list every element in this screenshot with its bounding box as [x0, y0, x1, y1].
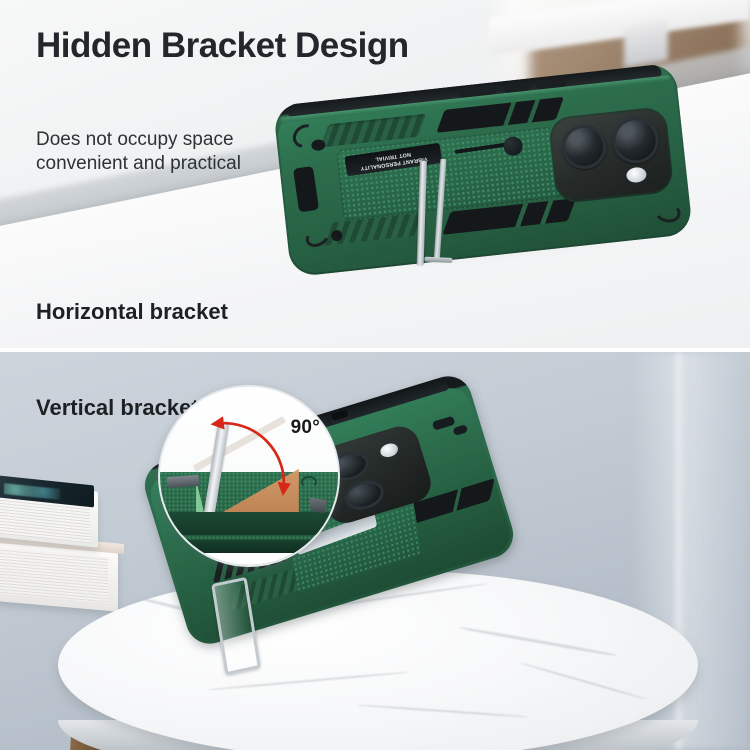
inset-bottom-band: [160, 553, 338, 565]
marble-table: [58, 570, 698, 750]
page-subtitle: Does not occupy space convenient and pra…: [36, 128, 241, 176]
detail-inset-circle: 90°: [158, 385, 340, 567]
subtitle-line-2: convenient and practical: [36, 153, 241, 174]
inset-case-stripe-1: [167, 512, 331, 535]
top-panel-horizontal-bracket: VIBRANT PERSONALITY NOT TRIVIAL Hidden B…: [0, 0, 750, 348]
page-title: Hidden Bracket Design: [36, 24, 409, 67]
angle-value-label: 90°: [291, 417, 321, 439]
caption-horizontal-bracket: Horizontal bracket: [36, 299, 228, 325]
product-feature-image: VIBRANT PERSONALITY NOT TRIVIAL Hidden B…: [0, 0, 750, 750]
subtitle-line-1: Does not occupy space: [36, 129, 234, 150]
inset-case-chip-left: [167, 475, 200, 488]
background-shelf-object: [624, 20, 668, 68]
bottom-panel-vertical-bracket: Vertical bracket: [0, 352, 750, 750]
marble-veining: [58, 570, 698, 750]
